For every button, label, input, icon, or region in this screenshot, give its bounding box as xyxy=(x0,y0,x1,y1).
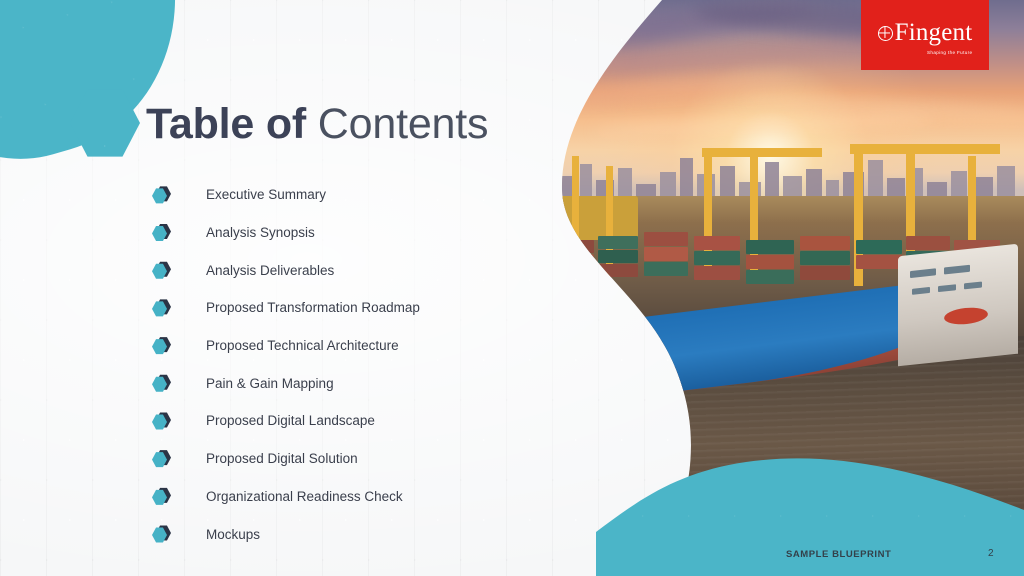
footer-label: SAMPLE BLUEPRINT xyxy=(786,549,891,560)
list-item[interactable]: Organizational Readiness Check xyxy=(152,478,582,516)
globe-icon xyxy=(878,26,893,41)
hexagon-bullet-icon xyxy=(152,261,171,279)
list-item[interactable]: Proposed Digital Solution xyxy=(152,440,582,478)
list-item[interactable]: Proposed Digital Landscape xyxy=(152,402,582,440)
hexagon-bullet-icon xyxy=(152,186,171,204)
list-item-label: Executive Summary xyxy=(206,187,326,202)
slide-table-of-contents: Fingent Shaping the Future Table of Cont… xyxy=(0,0,1024,576)
hexagon-bullet-icon xyxy=(152,299,171,317)
city-skyline xyxy=(554,150,1024,202)
list-item[interactable]: Analysis Synopsis xyxy=(152,214,582,252)
list-item-label: Organizational Readiness Check xyxy=(206,489,403,504)
list-item-label: Mockups xyxy=(206,527,260,542)
list-item-label: Proposed Transformation Roadmap xyxy=(206,300,420,315)
list-item-label: Proposed Technical Architecture xyxy=(206,338,399,353)
page-title-strong: Table of xyxy=(146,100,318,148)
hexagon-bullet-icon xyxy=(152,450,171,468)
company-logo: Fingent Shaping the Future xyxy=(861,0,989,70)
page-title-light: Contents xyxy=(318,100,489,148)
list-item-label: Pain & Gain Mapping xyxy=(206,376,334,391)
list-item-label: Analysis Synopsis xyxy=(206,225,315,240)
hexagon-bullet-icon xyxy=(152,374,171,392)
list-item-label: Proposed Digital Solution xyxy=(206,451,358,466)
hexagon-bullet-icon xyxy=(152,487,171,505)
list-item[interactable]: Executive Summary xyxy=(152,176,582,214)
list-item[interactable]: Proposed Transformation Roadmap xyxy=(152,289,582,327)
list-item[interactable]: Pain & Gain Mapping xyxy=(152,364,582,402)
page-number: 2 xyxy=(988,548,994,559)
list-item[interactable]: Proposed Technical Architecture xyxy=(152,327,582,365)
hexagon-bullet-icon xyxy=(152,525,171,543)
logo-tagline: Shaping the Future xyxy=(927,50,972,55)
logo-wordmark: Fingent xyxy=(895,20,973,46)
list-item-label: Proposed Digital Landscape xyxy=(206,413,375,428)
cloud xyxy=(594,112,934,138)
hexagon-bullet-icon xyxy=(152,337,171,355)
table-of-contents-list: Executive Summary Analysis Synopsis Anal… xyxy=(152,176,582,553)
hexagon-bullet-icon xyxy=(152,224,171,242)
hexagon-bullet-icon xyxy=(152,412,171,430)
list-item-label: Analysis Deliverables xyxy=(206,263,334,278)
list-item[interactable]: Analysis Deliverables xyxy=(152,251,582,289)
list-item[interactable]: Mockups xyxy=(152,515,582,553)
page-title: Table of Contents xyxy=(146,97,488,151)
ship-superstructure xyxy=(898,244,1018,367)
